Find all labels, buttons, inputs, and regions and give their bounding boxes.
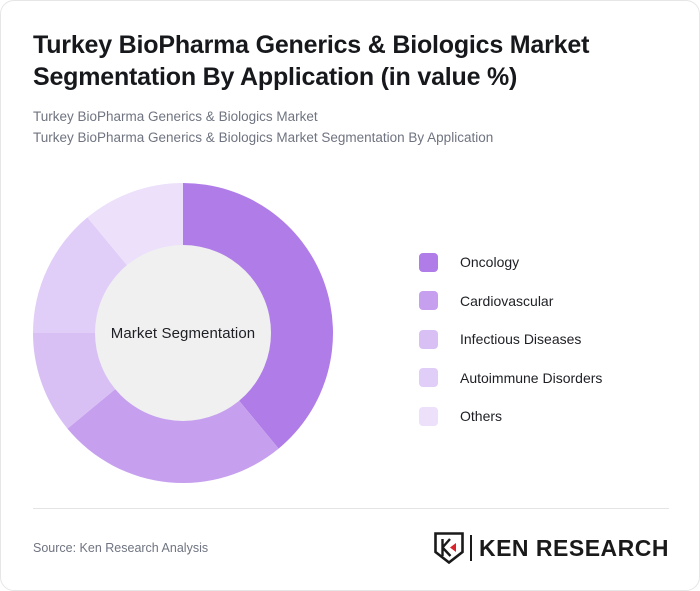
donut-chart-svg [33,183,333,483]
ken-research-shield-icon [434,532,464,564]
page-title: Turkey BioPharma Generics & Biologics Ma… [33,29,633,93]
brand-divider [470,535,472,561]
brand-name: KEN RESEARCH [479,535,669,562]
subtitle-line-2: Turkey BioPharma Generics & Biologics Ma… [33,128,633,149]
donut-center-hole [95,245,271,421]
chart-subtitle: Turkey BioPharma Generics & Biologics Ma… [33,107,633,149]
chart-card: Turkey BioPharma Generics & Biologics Ma… [0,0,700,591]
legend-item-label: Others [460,408,502,424]
brand-logo: KEN RESEARCH [434,532,669,564]
chart-footer: Source: Ken Research Analysis KEN RESEAR… [33,531,669,565]
legend-swatch-icon [419,330,438,349]
legend-swatch-icon [419,253,438,272]
chart-area: Market Segmentation OncologyCardiovascul… [1,171,700,501]
source-note: Source: Ken Research Analysis [33,541,208,555]
legend-swatch-icon [419,368,438,387]
legend-item-label: Infectious Diseases [460,331,581,347]
chart-legend: OncologyCardiovascularInfectious Disease… [419,243,669,436]
legend-item[interactable]: Autoimmune Disorders [419,359,669,398]
legend-item-label: Cardiovascular [460,293,553,309]
legend-item[interactable]: Infectious Diseases [419,320,669,359]
legend-swatch-icon [419,407,438,426]
legend-item-label: Autoimmune Disorders [460,370,602,386]
subtitle-line-1: Turkey BioPharma Generics & Biologics Ma… [33,107,633,128]
chart-header: Turkey BioPharma Generics & Biologics Ma… [33,29,633,149]
legend-item-label: Oncology [460,254,519,270]
legend-item[interactable]: Oncology [419,243,669,282]
footer-divider [33,508,669,509]
legend-swatch-icon [419,291,438,310]
donut-chart: Market Segmentation [33,183,333,483]
legend-item[interactable]: Cardiovascular [419,282,669,321]
legend-item[interactable]: Others [419,397,669,436]
